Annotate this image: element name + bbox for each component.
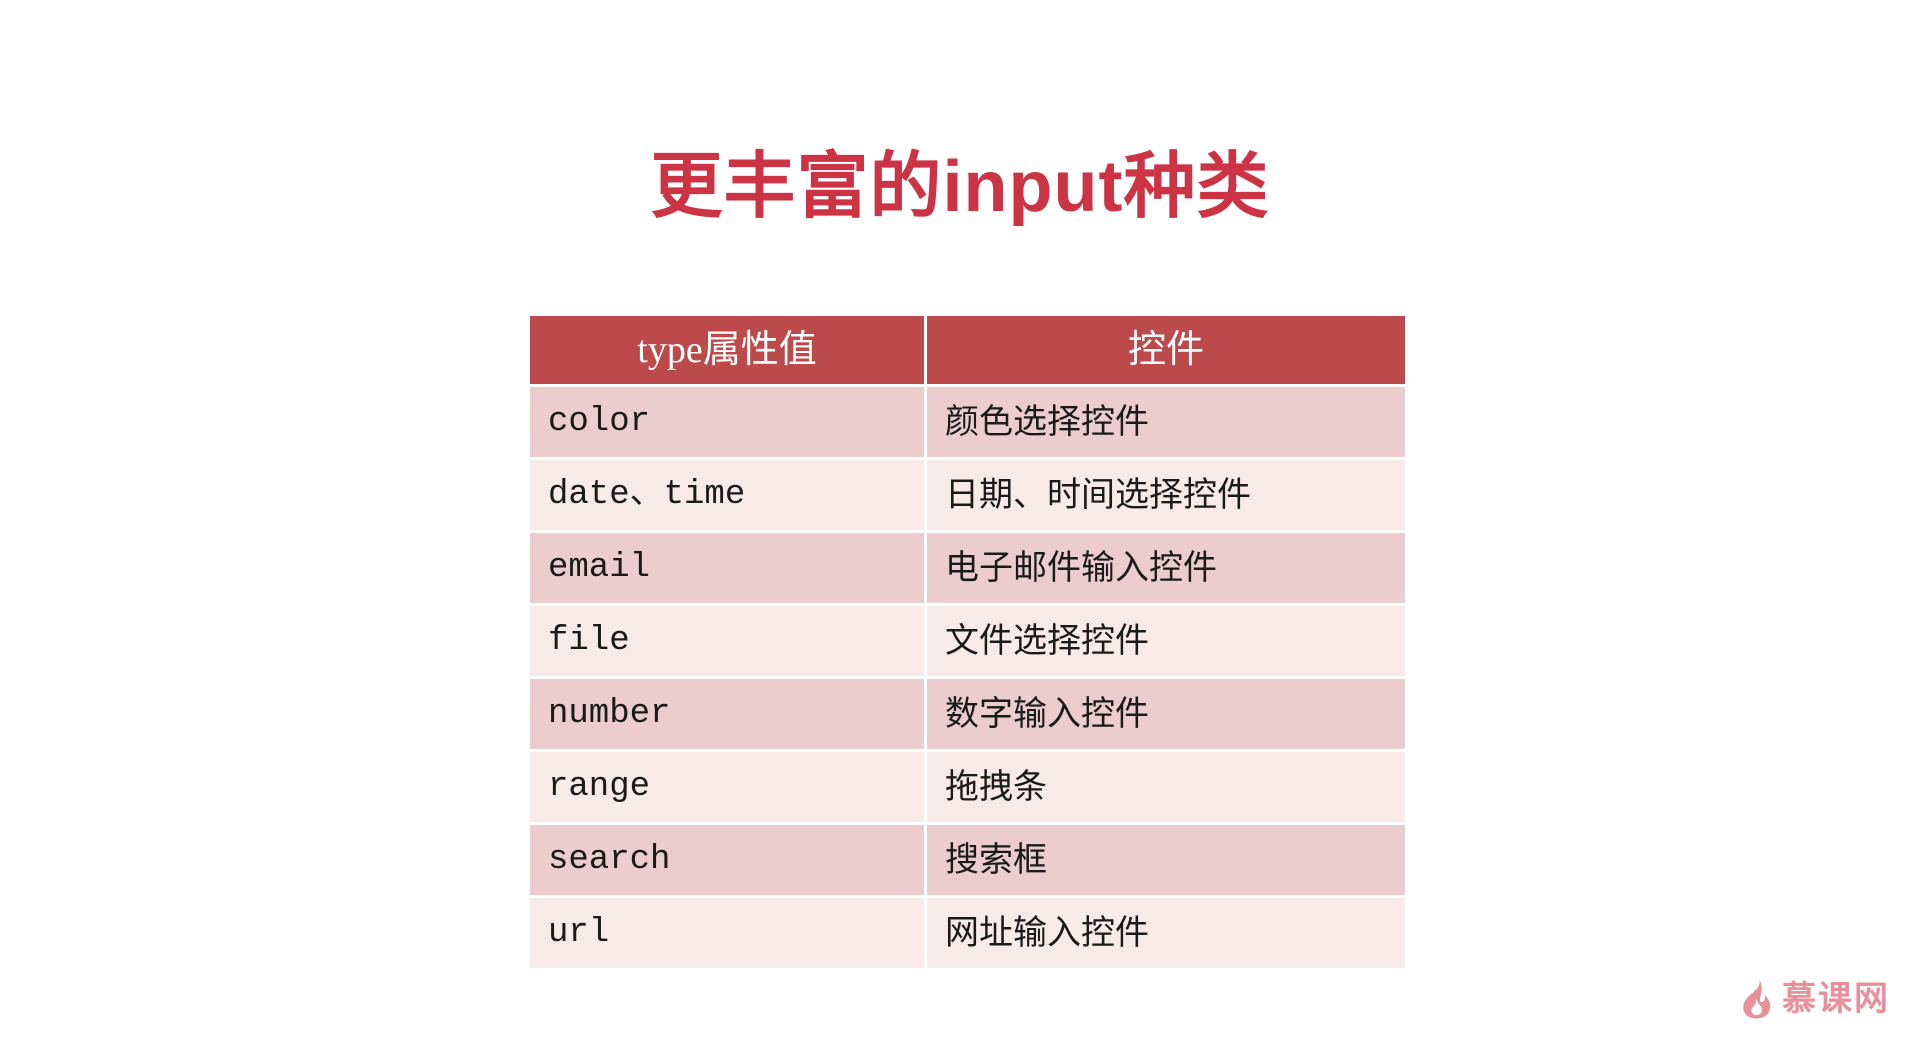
cell-type-value: number <box>530 679 924 749</box>
cell-widget-description: 日期、时间选择控件 <box>927 460 1405 530</box>
table-row: search搜索框 <box>530 825 1405 895</box>
cell-type-value: file <box>530 606 924 676</box>
cell-type-value: url <box>530 898 924 968</box>
flame-icon <box>1740 979 1774 1019</box>
table-row: url网址输入控件 <box>530 898 1405 968</box>
input-types-table: type属性值 控件 color颜色选择控件date、time日期、时间选择控件… <box>527 313 1408 971</box>
table-row: color颜色选择控件 <box>530 387 1405 457</box>
cell-widget-description: 文件选择控件 <box>927 606 1405 676</box>
table-row: file文件选择控件 <box>530 606 1405 676</box>
column-header-widget: 控件 <box>927 316 1405 384</box>
cell-widget-description: 拖拽条 <box>927 752 1405 822</box>
cell-type-value: email <box>530 533 924 603</box>
page-title: 更丰富的input种类 <box>0 144 1920 230</box>
cell-widget-description: 电子邮件输入控件 <box>927 533 1405 603</box>
table-header: type属性值 控件 <box>530 316 1405 384</box>
column-header-type: type属性值 <box>530 316 924 384</box>
table-body: color颜色选择控件date、time日期、时间选择控件email电子邮件输入… <box>530 387 1405 968</box>
cell-type-value: search <box>530 825 924 895</box>
cell-type-value: range <box>530 752 924 822</box>
input-types-table-container: type属性值 控件 color颜色选择控件date、time日期、时间选择控件… <box>527 313 1402 971</box>
cell-widget-description: 搜索框 <box>927 825 1405 895</box>
cell-type-value: color <box>530 387 924 457</box>
cell-widget-description: 颜色选择控件 <box>927 387 1405 457</box>
table-row: range拖拽条 <box>530 752 1405 822</box>
table-row: email电子邮件输入控件 <box>530 533 1405 603</box>
cell-type-value: date、time <box>530 460 924 530</box>
brand-name: 慕课网 <box>1782 979 1890 1019</box>
cell-widget-description: 网址输入控件 <box>927 898 1405 968</box>
table-row: date、time日期、时间选择控件 <box>530 460 1405 530</box>
table-row: number数字输入控件 <box>530 679 1405 749</box>
table-header-row: type属性值 控件 <box>530 316 1405 384</box>
presentation-slide: 更丰富的input种类 type属性值 控件 color颜色选择控件date、t… <box>0 0 1920 1040</box>
cell-widget-description: 数字输入控件 <box>927 679 1405 749</box>
brand-logo: 慕课网 <box>1740 976 1890 1022</box>
